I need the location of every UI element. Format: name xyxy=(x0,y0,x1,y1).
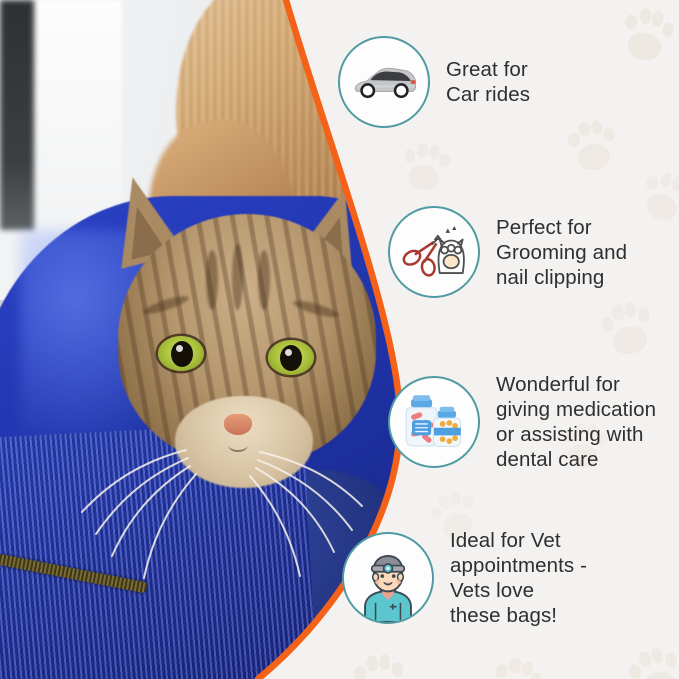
feature-item-medication[interactable]: Wonderful for giving medication or assis… xyxy=(388,372,656,472)
feature-list: Great for Car rides xyxy=(330,0,679,679)
veterinarian-icon xyxy=(344,534,432,622)
cat-eye-left xyxy=(158,336,204,371)
cat-pupil xyxy=(280,345,302,371)
eye-glint xyxy=(285,349,292,356)
feature-label: Ideal for Vet appointments - Vets love t… xyxy=(450,528,587,628)
feature-icon-badge xyxy=(338,36,430,128)
eye-glint xyxy=(176,345,183,352)
feature-label: Great for Car rides xyxy=(446,57,530,107)
photo-background-dark-edge xyxy=(0,0,34,230)
feature-icon-badge xyxy=(388,206,480,298)
cat-mouth xyxy=(228,438,248,452)
feature-label: Wonderful for giving medication or assis… xyxy=(496,372,656,472)
feature-item-grooming[interactable]: Perfect for Grooming and nail clipping xyxy=(388,206,627,298)
nail-clippers-paw-icon xyxy=(390,208,478,296)
cat-forehead-stripe xyxy=(232,244,243,310)
cat-pupil xyxy=(171,341,193,367)
cat-forehead-stripe xyxy=(258,250,270,310)
feature-icon-badge xyxy=(388,376,480,468)
product-feature-infographic: Great for Car rides xyxy=(0,0,679,679)
cat-forehead-stripe xyxy=(206,250,218,310)
cat-nose xyxy=(224,414,252,435)
feature-item-car-rides[interactable]: Great for Car rides xyxy=(338,36,530,128)
medicine-bottles-icon xyxy=(390,378,478,466)
cat-eye-right xyxy=(268,340,314,375)
car-icon xyxy=(340,38,428,126)
feature-label: Perfect for Grooming and nail clipping xyxy=(496,215,627,290)
feature-icon-badge xyxy=(342,532,434,624)
feature-item-vet-appointments[interactable]: Ideal for Vet appointments - Vets love t… xyxy=(342,528,587,628)
